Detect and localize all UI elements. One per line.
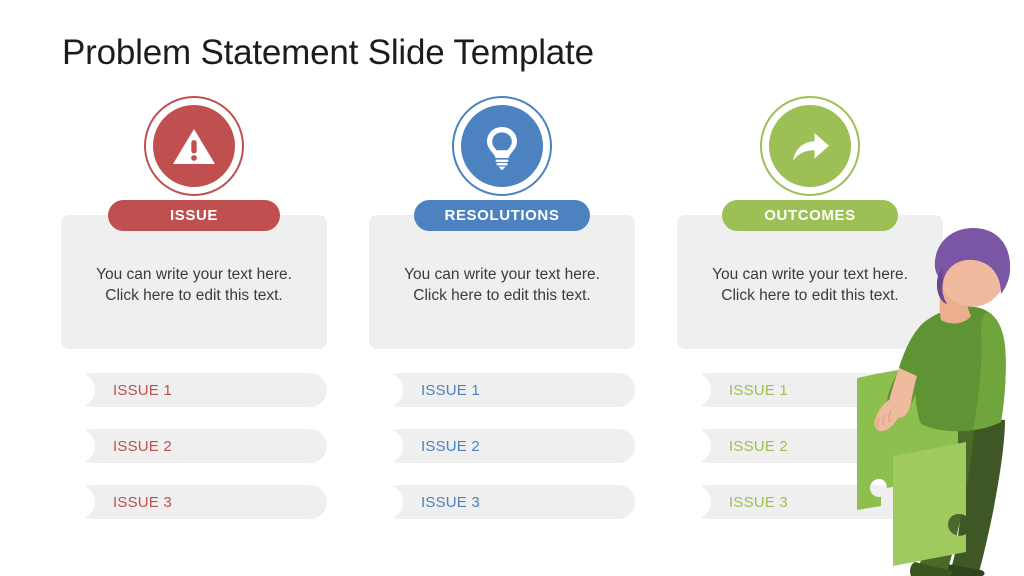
badge-resolutions[interactable]: RESOLUTIONS	[414, 200, 590, 231]
list-item-label: ISSUE 1	[421, 373, 480, 407]
list-item-label: ISSUE 1	[113, 373, 172, 407]
list-item-number: 3	[61, 485, 95, 519]
list-item-number: 2	[369, 429, 403, 463]
issue-body-text: You can write your text here. Click here…	[61, 264, 327, 306]
list-item-number: 1	[61, 373, 95, 407]
badge-resolutions-label: RESOLUTIONS	[445, 207, 560, 224]
resolutions-list: 1 ISSUE 1 2 ISSUE 2 3 ISSUE 3	[369, 373, 635, 519]
list-item-label: ISSUE 1	[729, 373, 788, 407]
list-item-number-text: 1	[382, 382, 390, 398]
list-item-number-text: 3	[74, 494, 82, 510]
outcomes-list: 1 ISSUE 1 2 ISSUE 2 3 ISSUE 3	[677, 373, 943, 519]
list-item[interactable]: 2 ISSUE 2	[61, 429, 327, 463]
issue-icon-badge	[144, 96, 244, 196]
list-item-number-text: 1	[690, 382, 698, 398]
list-item[interactable]: 2 ISSUE 2	[677, 429, 943, 463]
list-item[interactable]: 3 ISSUE 3	[61, 485, 327, 519]
slide-canvas: Problem Statement Slide Template ISSUE Y…	[0, 0, 1024, 576]
list-item-label: ISSUE 3	[113, 485, 172, 519]
issue-body-card[interactable]: You can write your text here. Click here…	[61, 215, 327, 349]
list-item[interactable]: 1 ISSUE 1	[369, 373, 635, 407]
page-title: Problem Statement Slide Template	[62, 31, 594, 75]
list-item-number-text: 2	[690, 438, 698, 454]
list-item-number: 3	[369, 485, 403, 519]
list-item-label: ISSUE 3	[729, 485, 788, 519]
badge-outcomes-label: OUTCOMES	[764, 207, 855, 224]
column-resolutions: RESOLUTIONS You can write your text here…	[369, 96, 635, 519]
list-item[interactable]: 1 ISSUE 1	[677, 373, 943, 407]
list-item-label: ISSUE 2	[113, 429, 172, 463]
list-item-number: 2	[677, 429, 711, 463]
warning-triangle-icon	[168, 120, 220, 172]
list-item-label: ISSUE 3	[421, 485, 480, 519]
list-item-number: 3	[677, 485, 711, 519]
list-item[interactable]: 1 ISSUE 1	[61, 373, 327, 407]
issue-list: 1 ISSUE 1 2 ISSUE 2 3 ISSUE 3	[61, 373, 327, 519]
list-item-number-text: 2	[382, 438, 390, 454]
list-item[interactable]: 2 ISSUE 2	[369, 429, 635, 463]
list-item-number: 1	[677, 373, 711, 407]
list-item-number-text: 3	[382, 494, 390, 510]
list-item-label: ISSUE 2	[729, 429, 788, 463]
badge-outcomes[interactable]: OUTCOMES	[722, 200, 898, 231]
list-item-number-text: 2	[74, 438, 82, 454]
outcomes-icon-badge	[760, 96, 860, 196]
list-item-number: 1	[369, 373, 403, 407]
resolutions-body-text: You can write your text here. Click here…	[369, 264, 635, 306]
column-outcomes: OUTCOMES You can write your text here. C…	[677, 96, 943, 519]
lightbulb-icon	[476, 120, 528, 172]
outcomes-body-text: You can write your text here. Click here…	[677, 264, 943, 306]
curved-forward-arrow-icon	[784, 120, 836, 172]
list-item-number-text: 1	[74, 382, 82, 398]
list-item-number: 2	[61, 429, 95, 463]
badge-issue[interactable]: ISSUE	[108, 200, 280, 231]
outcomes-body-card[interactable]: You can write your text here. Click here…	[677, 215, 943, 349]
list-item[interactable]: 3 ISSUE 3	[677, 485, 943, 519]
resolutions-icon-badge	[452, 96, 552, 196]
list-item-label: ISSUE 2	[421, 429, 480, 463]
list-item-number-text: 3	[690, 494, 698, 510]
badge-issue-label: ISSUE	[170, 207, 218, 224]
resolutions-body-card[interactable]: You can write your text here. Click here…	[369, 215, 635, 349]
column-issue: ISSUE You can write your text here. Clic…	[61, 96, 327, 519]
list-item[interactable]: 3 ISSUE 3	[369, 485, 635, 519]
